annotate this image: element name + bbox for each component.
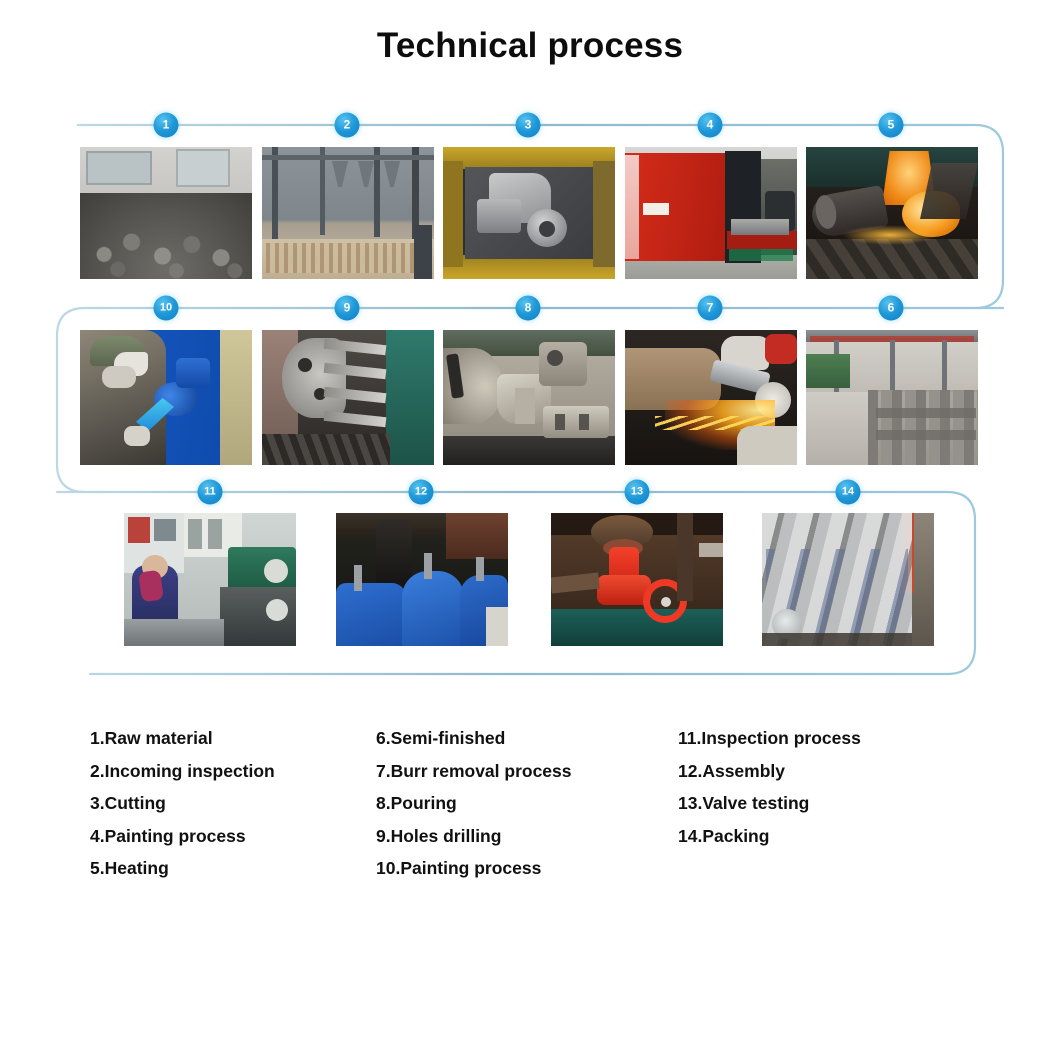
process-photo-14 xyxy=(762,513,934,646)
step-badge-1[interactable]: 1 xyxy=(154,113,179,138)
legend-item: 2.Incoming inspection xyxy=(90,755,370,788)
legend-item: 11.Inspection process xyxy=(678,722,978,755)
process-photo-12 xyxy=(336,513,508,646)
step-badge-5[interactable]: 5 xyxy=(879,113,904,138)
legend-item: 4.Painting process xyxy=(90,820,370,853)
process-photo-3 xyxy=(443,147,615,279)
process-photo-5 xyxy=(806,147,978,279)
process-photo-6 xyxy=(806,330,978,465)
legend-item: 12.Assembly xyxy=(678,755,978,788)
legend-column-2: 6.Semi-finished 7.Burr removal process 8… xyxy=(376,722,676,885)
legend-item: 14.Packing xyxy=(678,820,978,853)
step-badge-6[interactable]: 6 xyxy=(879,296,904,321)
process-photo-1 xyxy=(80,147,252,279)
legend-item: 3.Cutting xyxy=(90,787,370,820)
legend-item: 7.Burr removal process xyxy=(376,755,676,788)
legend-item: 8.Pouring xyxy=(376,787,676,820)
process-photo-7 xyxy=(625,330,797,465)
page-title: Technical process xyxy=(0,26,1060,66)
step-badge-9[interactable]: 9 xyxy=(335,296,360,321)
step-badge-3[interactable]: 3 xyxy=(516,113,541,138)
technical-process-infographic: Technical process xyxy=(0,0,1060,1060)
legend-item: 5.Heating xyxy=(90,852,370,885)
step-badge-10[interactable]: 10 xyxy=(154,296,179,321)
step-badge-14[interactable]: 14 xyxy=(836,480,861,505)
legend-item: 10.Painting process xyxy=(376,852,676,885)
process-photo-2 xyxy=(262,147,434,279)
process-legend: 1.Raw material 2.Incoming inspection 3.C… xyxy=(0,722,1060,902)
process-photo-13 xyxy=(551,513,723,646)
legend-column-1: 1.Raw material 2.Incoming inspection 3.C… xyxy=(90,722,370,885)
step-badge-11[interactable]: 11 xyxy=(198,480,223,505)
legend-item: 9.Holes drilling xyxy=(376,820,676,853)
step-badge-4[interactable]: 4 xyxy=(698,113,723,138)
legend-column-3: 11.Inspection process 12.Assembly 13.Val… xyxy=(678,722,978,852)
step-badge-12[interactable]: 12 xyxy=(409,480,434,505)
process-photo-4 xyxy=(625,147,797,279)
step-badge-8[interactable]: 8 xyxy=(516,296,541,321)
legend-item: 6.Semi-finished xyxy=(376,722,676,755)
process-photo-10 xyxy=(80,330,252,465)
legend-item: 1.Raw material xyxy=(90,722,370,755)
step-badge-7[interactable]: 7 xyxy=(698,296,723,321)
process-photo-9 xyxy=(262,330,434,465)
step-badge-13[interactable]: 13 xyxy=(625,480,650,505)
process-photo-11 xyxy=(124,513,296,646)
process-photo-8 xyxy=(443,330,615,465)
step-badge-2[interactable]: 2 xyxy=(335,113,360,138)
legend-item: 13.Valve testing xyxy=(678,787,978,820)
